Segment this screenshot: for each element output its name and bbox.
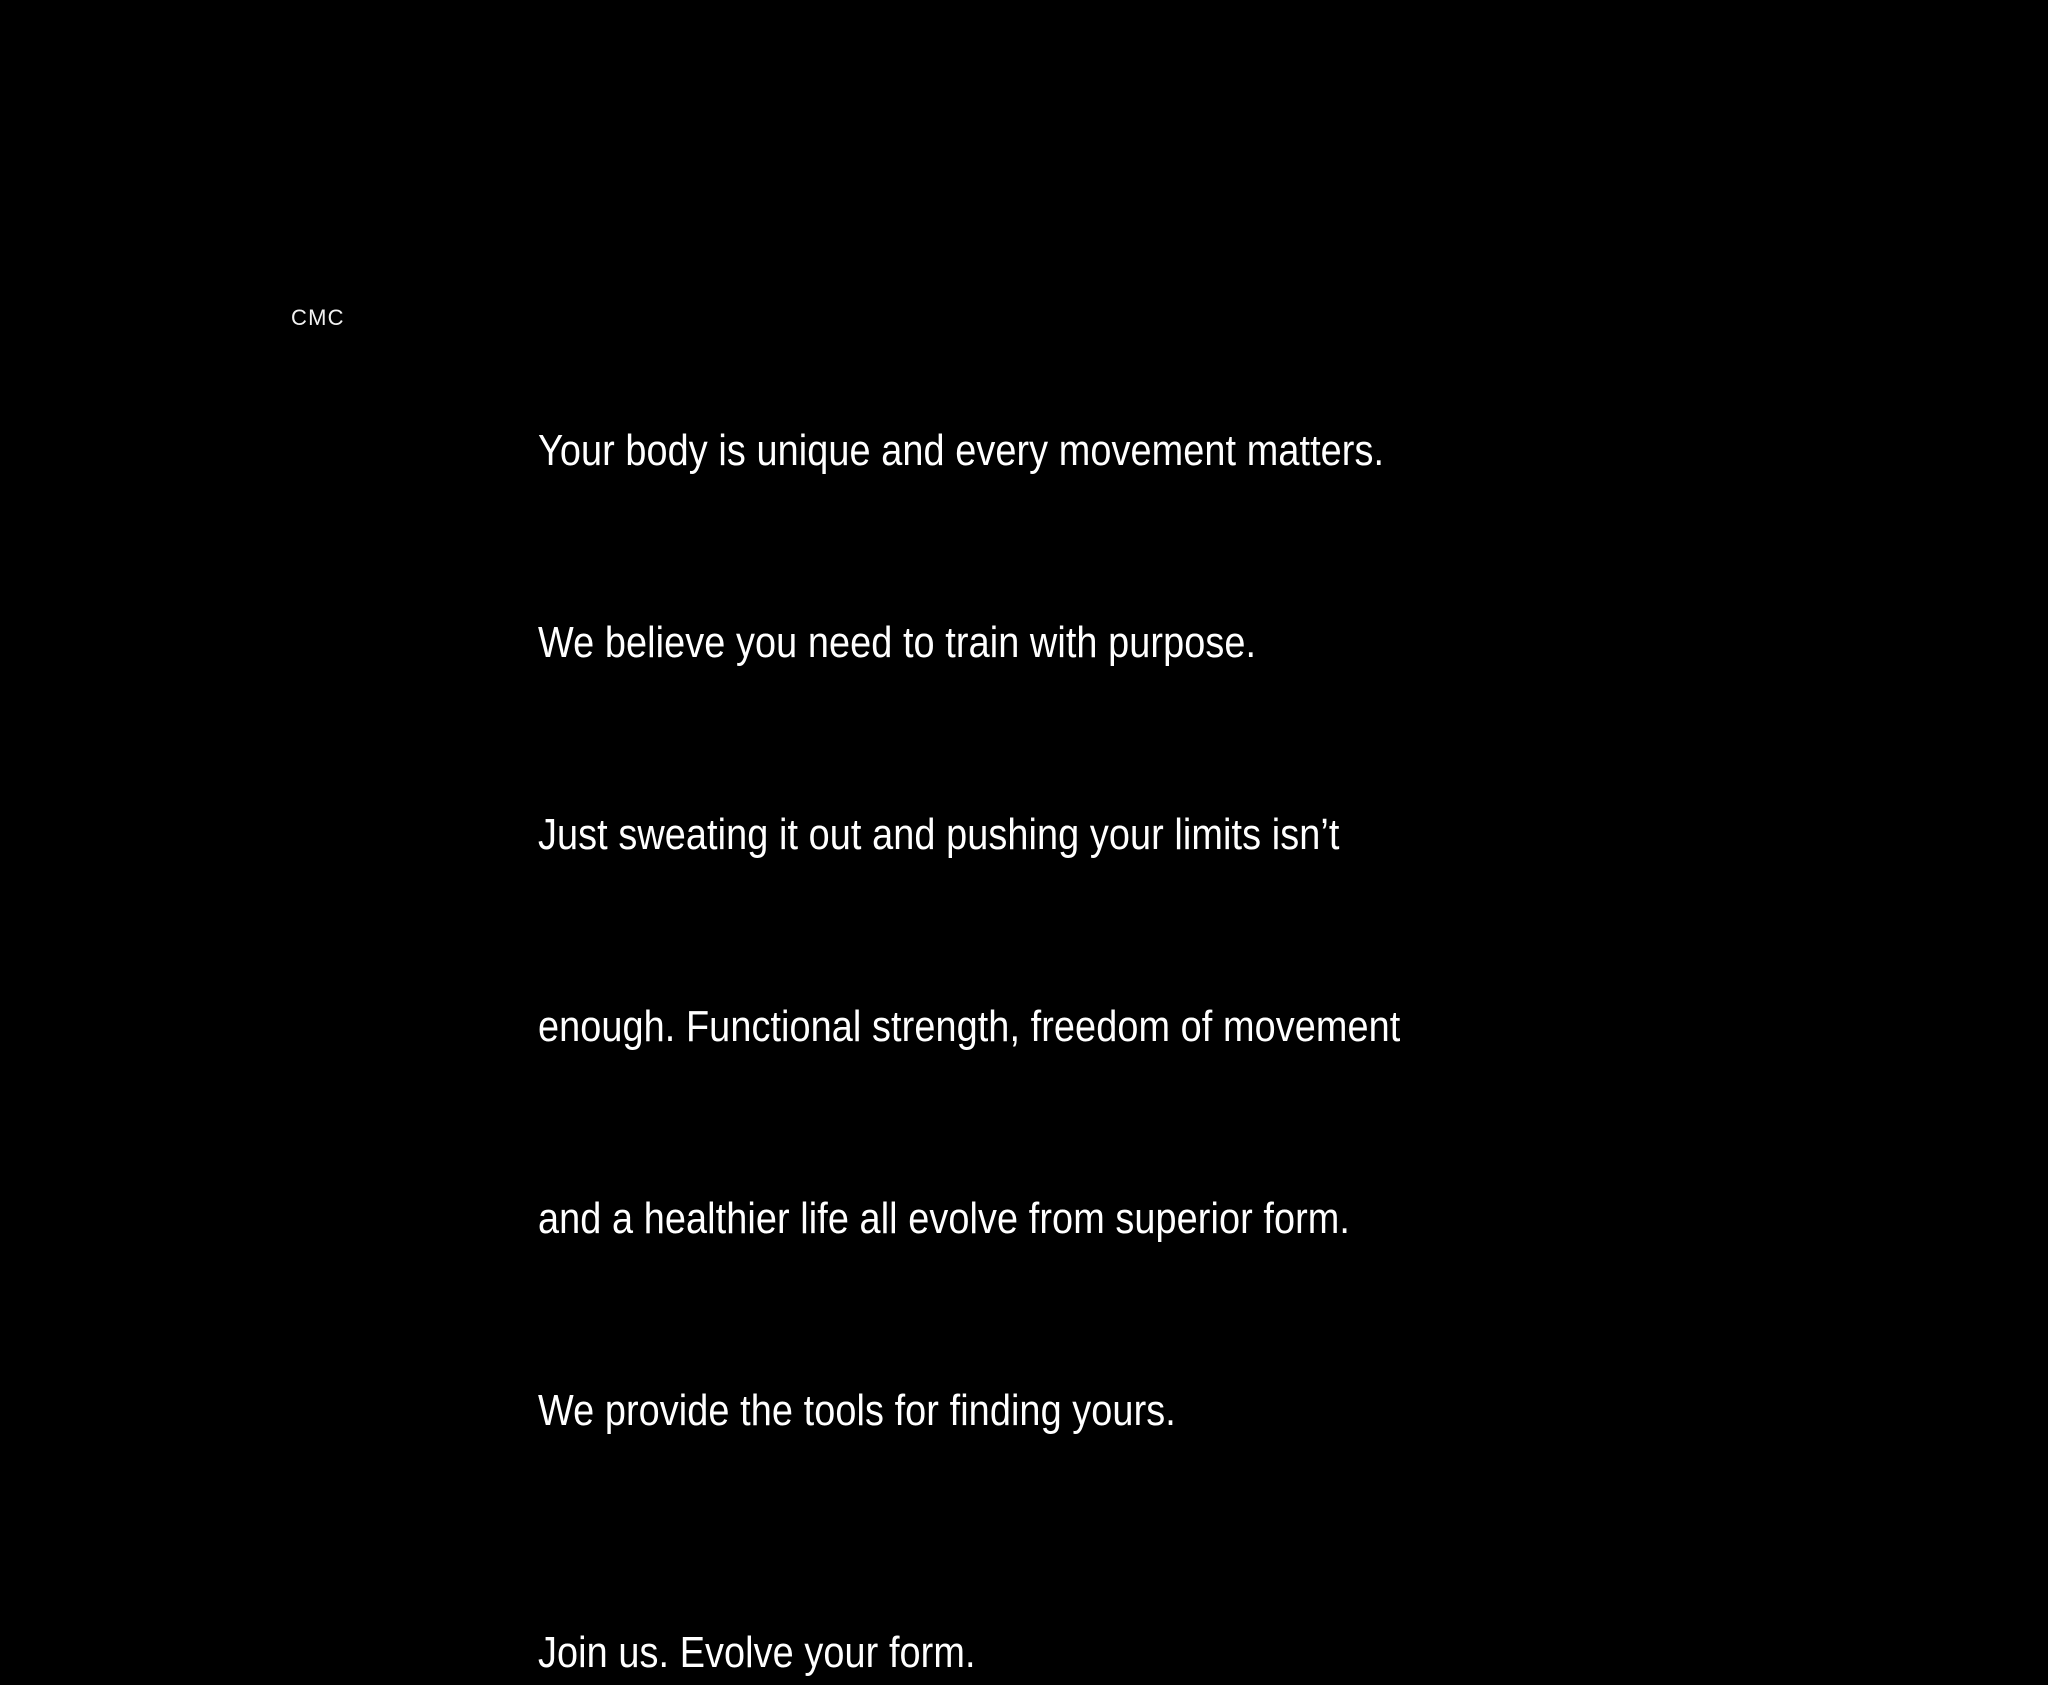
statement-body-line: Just sweating it out and pushing your li…: [538, 803, 1604, 867]
statement-body-line: enough. Functional strength, freedom of …: [538, 995, 1604, 1059]
statement-cta-line: Join us. Evolve your form.: [538, 1571, 1604, 1685]
statement-body-paragraph: Your body is unique and every movement m…: [538, 291, 1604, 1571]
statement-body-line: Your body is unique and every movement m…: [538, 419, 1604, 483]
statement-body-line: and a healthier life all evolve from sup…: [538, 1187, 1604, 1251]
statement-body-line: We provide the tools for finding yours.: [538, 1379, 1604, 1443]
brand-statement: Your body is unique and every movement m…: [538, 291, 1778, 1685]
cmc-wordmark-logo[interactable]: CMC: [291, 306, 345, 330]
statement-body-line: We believe you need to train with purpos…: [538, 611, 1604, 675]
page-root: CMC Your body is unique and every moveme…: [0, 0, 2048, 1065]
